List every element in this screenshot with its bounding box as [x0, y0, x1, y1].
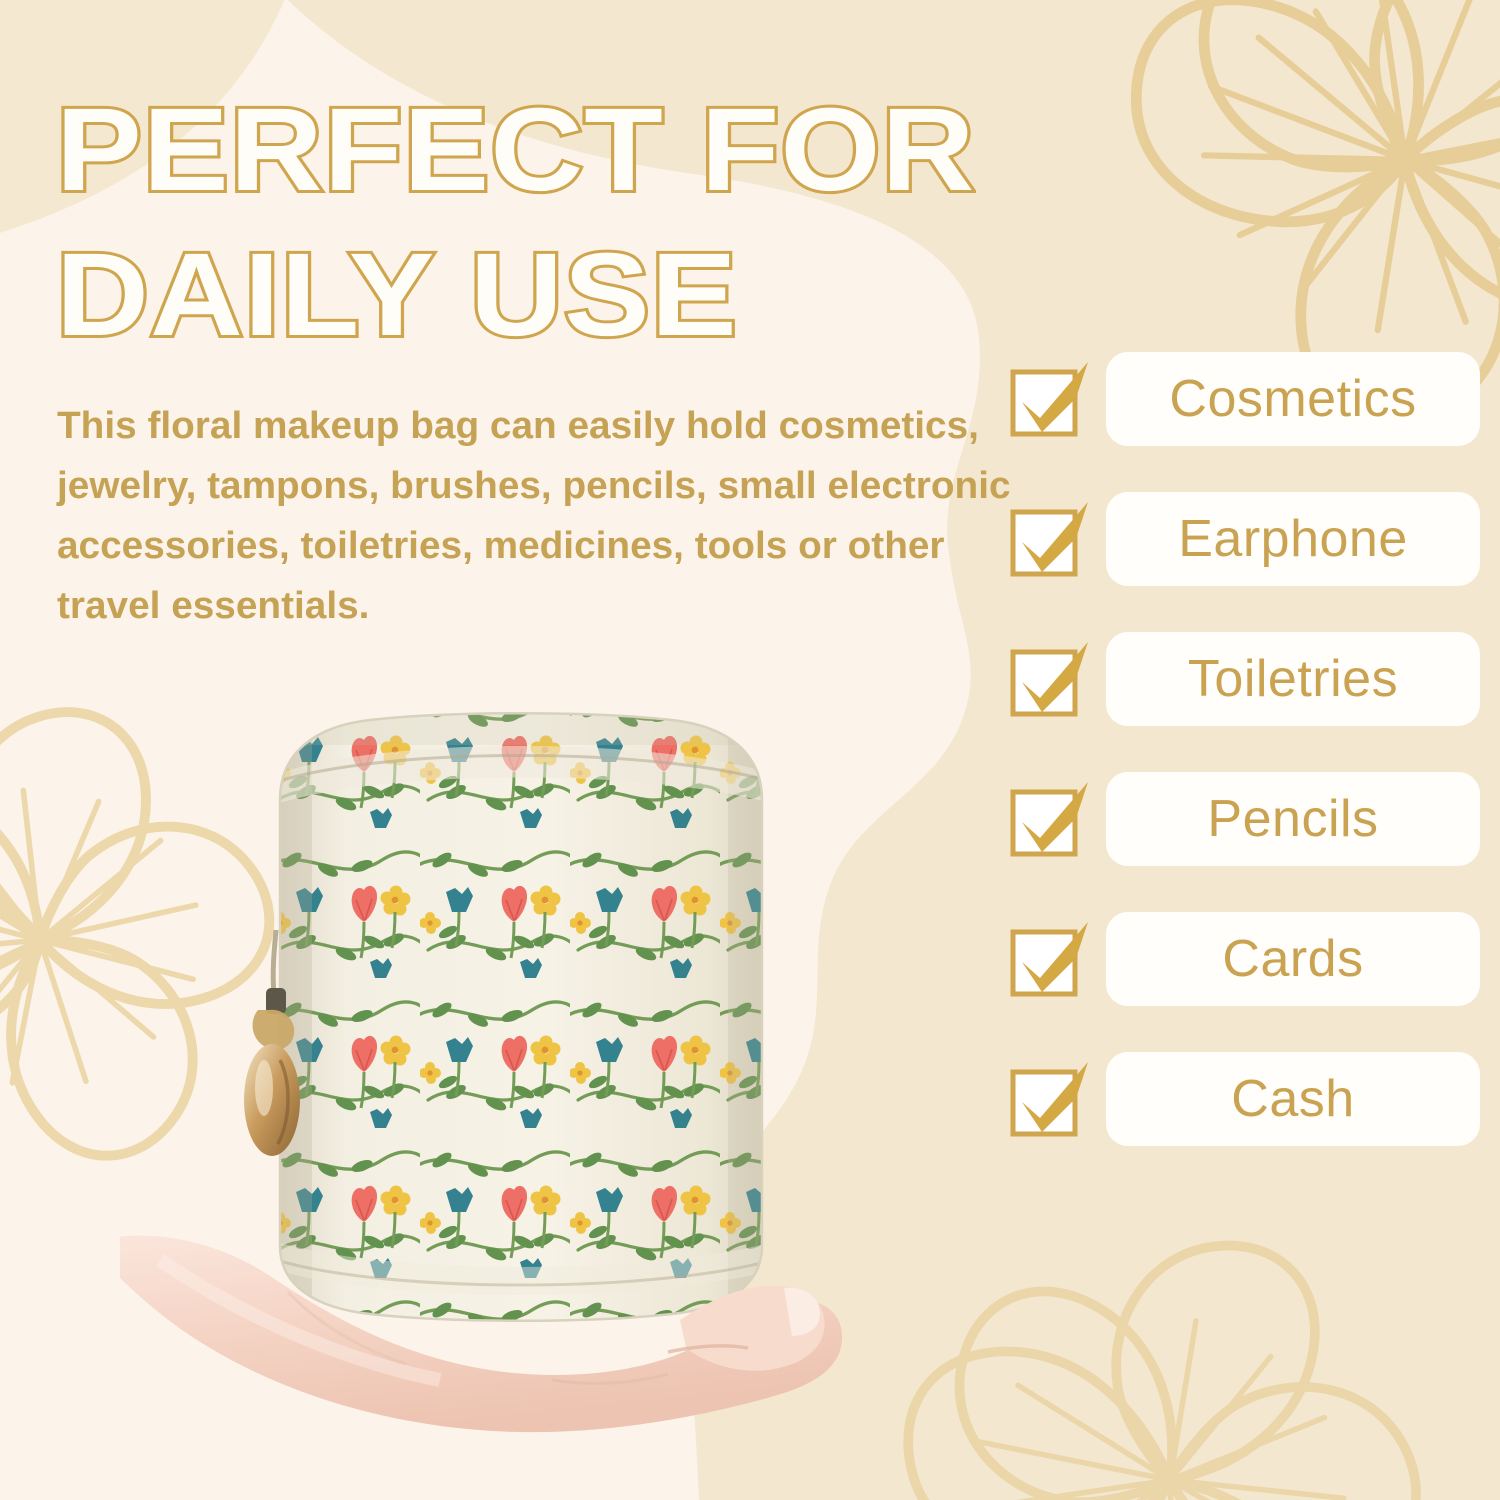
checklist-label: Earphone — [1178, 513, 1408, 565]
checklist-item-toiletries[interactable]: Toiletries — [1010, 632, 1480, 726]
checklist-pill[interactable]: Earphone — [1106, 492, 1480, 586]
checklist-pill[interactable]: Cards — [1106, 912, 1480, 1006]
checklist-label: Cards — [1222, 933, 1363, 985]
product-photo — [120, 680, 920, 1500]
floral-makeup-bag-illustration — [120, 680, 920, 1500]
headline-line-2: DAILY USE — [56, 223, 1124, 368]
checkbox-checked-icon[interactable] — [1010, 920, 1096, 998]
headline-line-1: PERFECT FOR — [56, 78, 1124, 223]
checklist-pill[interactable]: Toiletries — [1106, 632, 1480, 726]
checkbox-checked-icon[interactable] — [1010, 360, 1096, 438]
marketing-image: PERFECT FOR DAILY USE This floral makeup… — [0, 0, 1500, 1500]
checklist-item-pencils[interactable]: Pencils — [1010, 772, 1480, 866]
checkbox-checked-icon[interactable] — [1010, 500, 1096, 578]
feature-checklist: Cosmetics Earphone Toiletr — [1010, 352, 1480, 1146]
checklist-label: Toiletries — [1188, 653, 1398, 705]
page-title: PERFECT FOR DAILY USE — [56, 78, 1036, 368]
checkbox-checked-icon[interactable] — [1010, 780, 1096, 858]
checklist-item-cosmetics[interactable]: Cosmetics — [1010, 352, 1480, 446]
bag-body — [270, 705, 780, 1330]
product-description: This floral makeup bag can easily hold c… — [57, 396, 1021, 636]
checklist-label: Cosmetics — [1169, 373, 1416, 425]
checklist-pill[interactable]: Pencils — [1106, 772, 1480, 866]
checkbox-checked-icon[interactable] — [1010, 640, 1096, 718]
checklist-label: Cash — [1231, 1073, 1354, 1125]
checklist-pill[interactable]: Cash — [1106, 1052, 1480, 1146]
checklist-item-cash[interactable]: Cash — [1010, 1052, 1480, 1146]
checklist-item-cards[interactable]: Cards — [1010, 912, 1480, 1006]
checklist-label: Pencils — [1207, 793, 1378, 845]
checkbox-checked-icon[interactable] — [1010, 1060, 1096, 1138]
checklist-item-earphone[interactable]: Earphone — [1010, 492, 1480, 586]
checklist-pill[interactable]: Cosmetics — [1106, 352, 1480, 446]
